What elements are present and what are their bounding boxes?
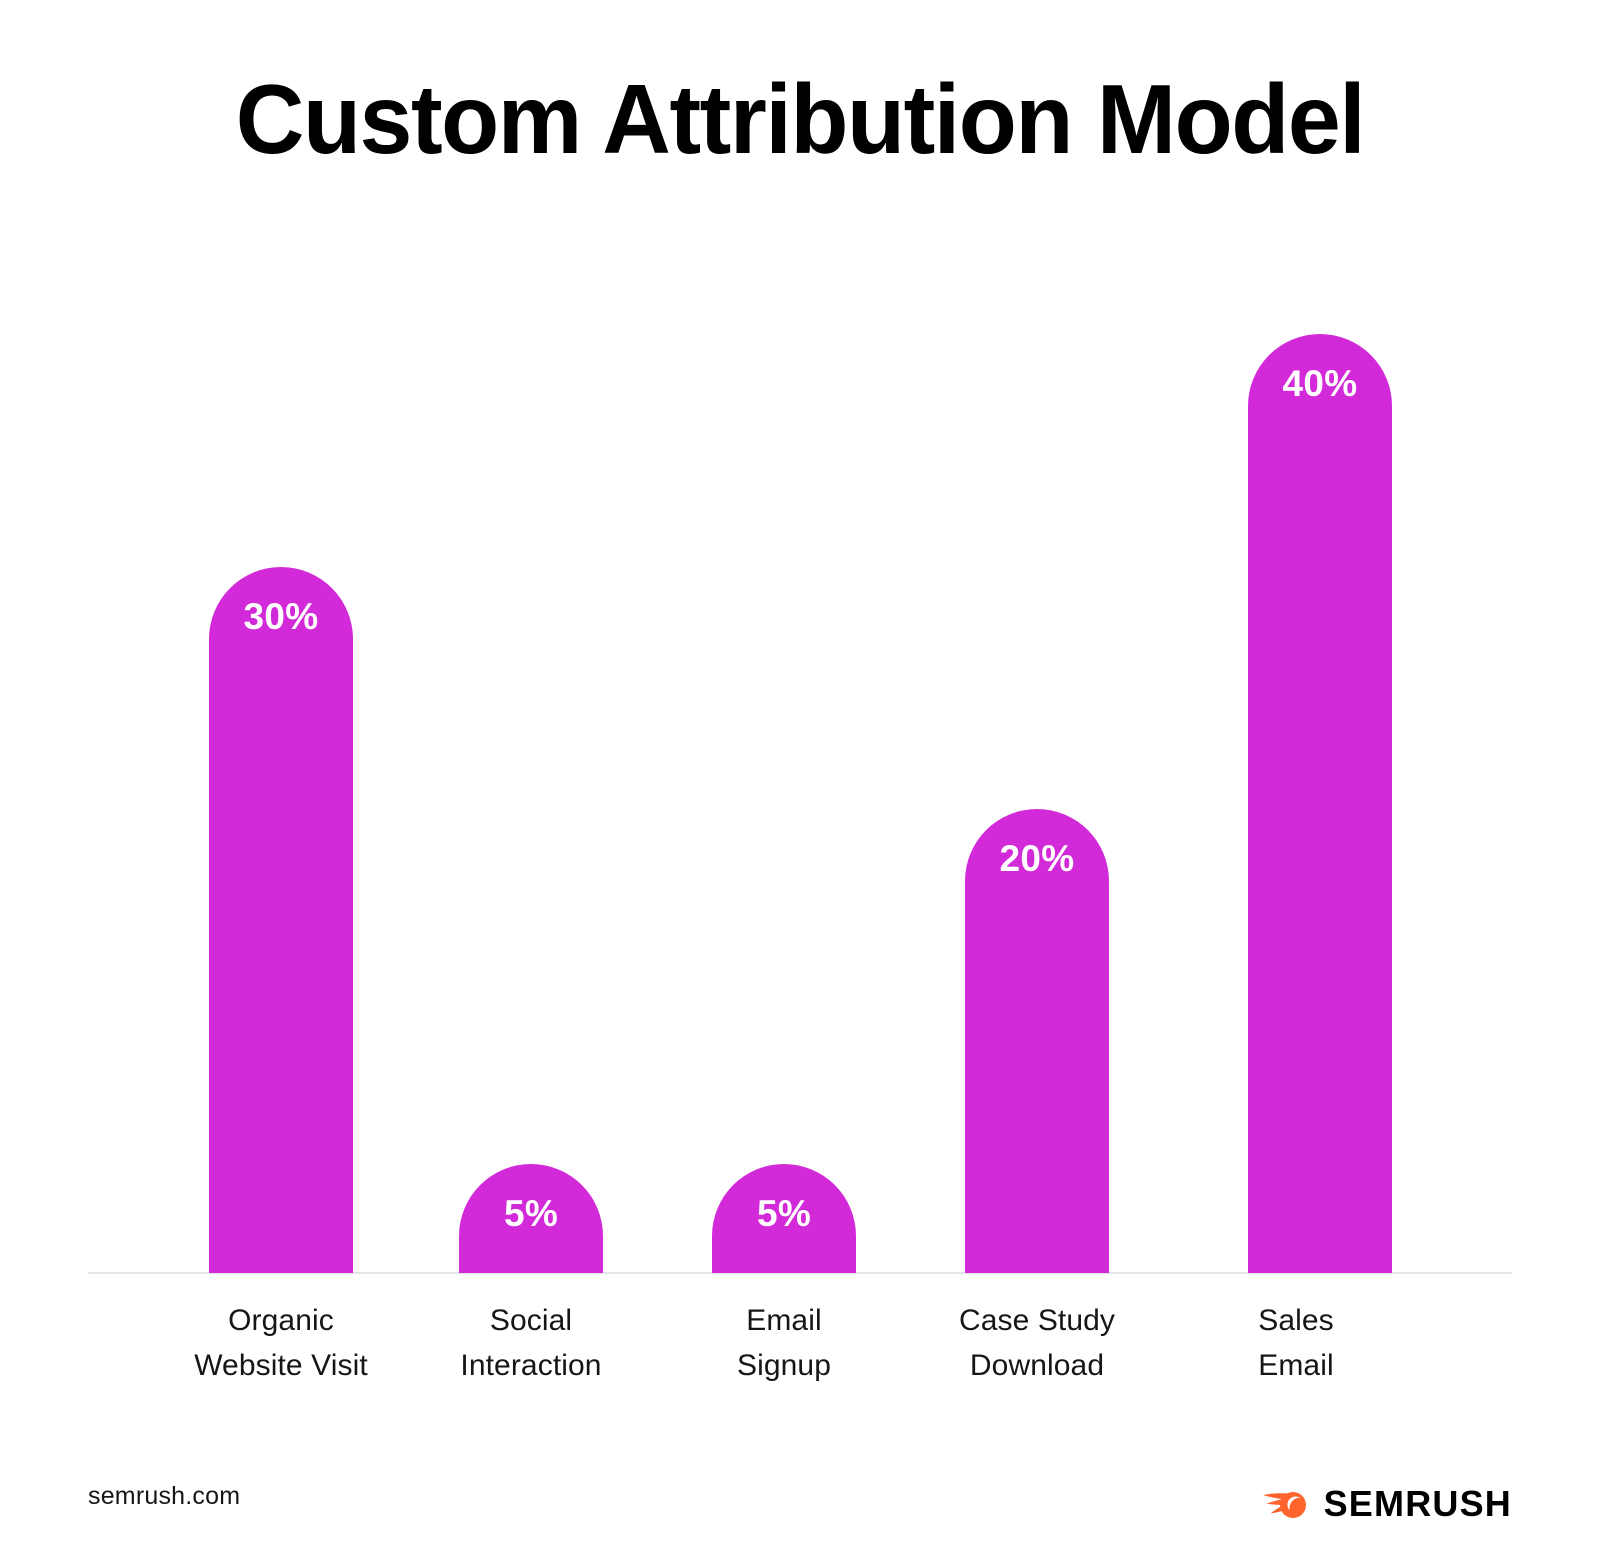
semrush-comet-icon (1260, 1484, 1310, 1524)
semrush-logo[interactable]: SEMRUSH (1260, 1482, 1512, 1526)
bar-value-label: 20% (965, 840, 1109, 877)
bar-value-label: 5% (712, 1195, 856, 1232)
x-axis-label-line2: Email (1146, 1343, 1446, 1388)
x-axis-label-line1: Case Study (959, 1304, 1115, 1337)
bar-slot-sales-email: 40% (1248, 200, 1392, 1273)
bar-organic-website-visit[interactable] (209, 567, 353, 1273)
x-axis-label-line1: Sales (1258, 1304, 1334, 1337)
bar-slot-case-study-download: 20% (965, 200, 1109, 1273)
x-axis-label-case-study-download: Case Study Download (887, 1298, 1187, 1388)
bar-slot-social-interaction: 5% (459, 200, 603, 1273)
plot-area: 30% 5% 5% 20% 40% (88, 200, 1512, 1274)
bar-value-label: 30% (209, 598, 353, 635)
bar-sales-email[interactable] (1248, 334, 1392, 1273)
x-axis-label-sales-email: Sales Email (1146, 1298, 1446, 1388)
bar-value-label: 5% (459, 1195, 603, 1232)
bar-value-label: 40% (1248, 365, 1392, 402)
x-axis-label-line1: Organic (228, 1304, 334, 1337)
chart-canvas: Custom Attribution Model 30% 5% 5% 20% 4… (0, 0, 1600, 1559)
x-axis-label-line2: Download (887, 1343, 1187, 1388)
semrush-wordmark: SEMRUSH (1324, 1486, 1512, 1522)
x-axis-label-line1: Email (746, 1304, 822, 1337)
x-axis-label-line1: Social (490, 1304, 572, 1337)
bar-slot-email-signup: 5% (712, 200, 856, 1273)
bar-slot-organic-website-visit: 30% (209, 200, 353, 1273)
footer-website-url[interactable]: semrush.com (88, 1482, 240, 1511)
page-title: Custom Attribution Model (24, 64, 1576, 174)
